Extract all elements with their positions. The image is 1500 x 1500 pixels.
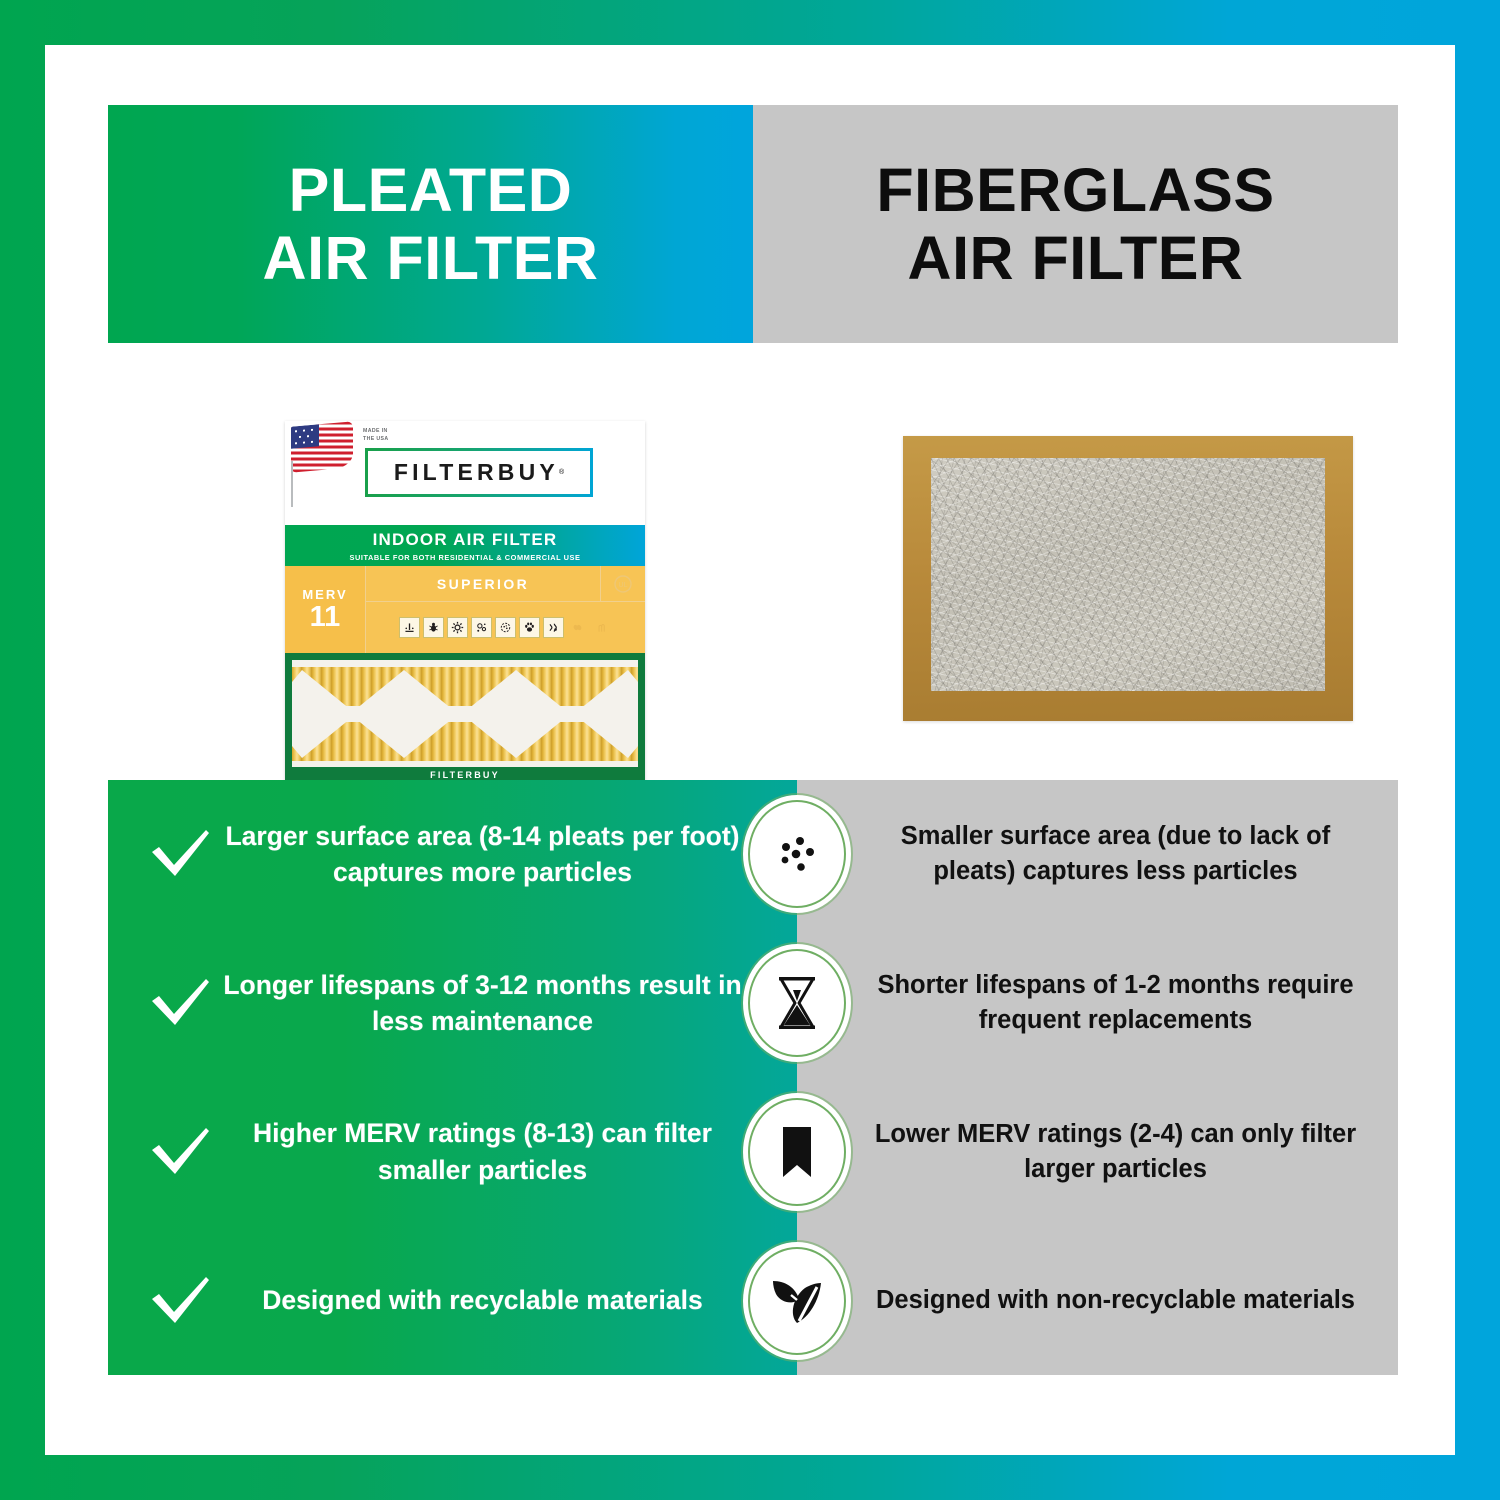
feature-icon-row [366, 602, 645, 653]
header-pleated: PLEATED AIR FILTER [108, 105, 753, 343]
comparison-row-right-text: Lower MERV ratings (2-4) can only filter… [797, 1117, 1398, 1187]
merv-spec-block: MERV 11 SUPERIOR UL [285, 566, 645, 653]
infographic-root: PLEATED AIR FILTER FIBERGLASS AIR FILTER… [0, 0, 1500, 1500]
ul-certification-icon: UL [600, 566, 645, 601]
comparison-row-left-text: Designed with recyclable materials [214, 1282, 797, 1319]
comparison-row-right-text: Designed with non-recyclable materials [797, 1283, 1398, 1318]
checkmark-icon [148, 828, 214, 880]
particles-icon [748, 800, 846, 908]
made-in-usa-label: MADE IN THE USA [363, 428, 389, 444]
flagpole-icon [291, 461, 293, 507]
comparison-row-left: Larger surface area (8-14 pleats per foo… [108, 818, 797, 891]
fiberglass-media [931, 458, 1325, 691]
trademark-symbol: ® [559, 469, 564, 476]
product-images-row: MADE IN THE USA FILTERBUY® INDOOR AIR FI… [108, 343, 1398, 780]
comparison-row-left: Designed with recyclable materials [108, 1275, 797, 1327]
header-pleated-title: PLEATED AIR FILTER [263, 156, 599, 293]
tier-row: SUPERIOR UL [366, 566, 645, 602]
infographic-canvas: PLEATED AIR FILTER FIBERGLASS AIR FILTER… [45, 45, 1455, 1455]
comparison-row: Higher MERV ratings (8-13) can filter sm… [108, 1078, 1398, 1227]
band-main-label: INDOOR AIR FILTER [373, 530, 558, 550]
pleated-filter-product-image: MADE IN THE USA FILTERBUY® INDOOR AIR FI… [285, 421, 645, 783]
svg-text:UL: UL [619, 582, 628, 589]
dust-icon [399, 617, 420, 638]
us-flag-icon [291, 421, 353, 472]
support-mesh-overlay [292, 660, 638, 768]
checkmark-icon [148, 1126, 214, 1178]
band-sub-label: SUITABLE FOR BOTH RESIDENTIAL & COMMERCI… [349, 553, 580, 562]
comparison-panel: Larger surface area (8-14 pleats per foo… [108, 780, 1398, 1375]
merv-label: MERV [302, 587, 347, 602]
header-band: PLEATED AIR FILTER FIBERGLASS AIR FILTER [108, 105, 1398, 343]
comparison-row-left-text: Longer lifespans of 3-12 months result i… [214, 967, 797, 1040]
checkmark-icon [148, 1275, 214, 1327]
insect-icon [423, 617, 444, 638]
virus-icon [567, 617, 588, 638]
bacteria-icon [495, 617, 516, 638]
comparison-row-left: Higher MERV ratings (8-13) can filter sm… [108, 1115, 797, 1188]
merv-detail-block: SUPERIOR UL [366, 566, 645, 653]
comparison-row-left-text: Higher MERV ratings (8-13) can filter sm… [214, 1115, 797, 1188]
comparison-rows: Larger surface area (8-14 pleats per foo… [108, 780, 1398, 1375]
merv-rating-block: MERV 11 [285, 566, 366, 653]
merv-value: 11 [310, 603, 341, 632]
leaf-sprout-icon [748, 1247, 846, 1355]
product-box-header: MADE IN THE USA FILTERBUY® [285, 421, 645, 525]
pet-dander-icon [519, 617, 540, 638]
indoor-air-filter-band: INDOOR AIR FILTER SUITABLE FOR BOTH RESI… [285, 525, 645, 566]
comparison-row: Larger surface area (8-14 pleats per foo… [108, 780, 1398, 929]
filterbuy-logo-text: FILTERBUY [394, 459, 559, 486]
odor-icon [591, 617, 612, 638]
header-fiberglass: FIBERGLASS AIR FILTER [753, 105, 1398, 343]
filterbuy-logo: FILTERBUY® [365, 448, 593, 497]
comparison-row-right-text: Shorter lifespans of 1-2 months require … [797, 968, 1398, 1038]
comparison-row-left: Longer lifespans of 3-12 months result i… [108, 967, 797, 1040]
bookmark-icon [748, 1098, 846, 1206]
fiberglass-filter-product-image [903, 436, 1353, 721]
comparison-row: Designed with recyclable materials Desig… [108, 1226, 1398, 1375]
tier-label: SUPERIOR [366, 576, 600, 592]
mold-spores-icon [471, 617, 492, 638]
comparison-row-left-text: Larger surface area (8-14 pleats per foo… [214, 818, 797, 891]
pleat-texture [292, 660, 638, 768]
header-fiberglass-title: FIBERGLASS AIR FILTER [876, 156, 1274, 293]
smoke-icon [543, 617, 564, 638]
pleated-media-photo: FILTERBUY [285, 653, 645, 783]
comparison-row: Longer lifespans of 3-12 months result i… [108, 929, 1398, 1078]
hourglass-icon [748, 949, 846, 1057]
pollen-icon [447, 617, 468, 638]
comparison-row-right-text: Smaller surface area (due to lack of ple… [797, 819, 1398, 889]
checkmark-icon [148, 977, 214, 1029]
